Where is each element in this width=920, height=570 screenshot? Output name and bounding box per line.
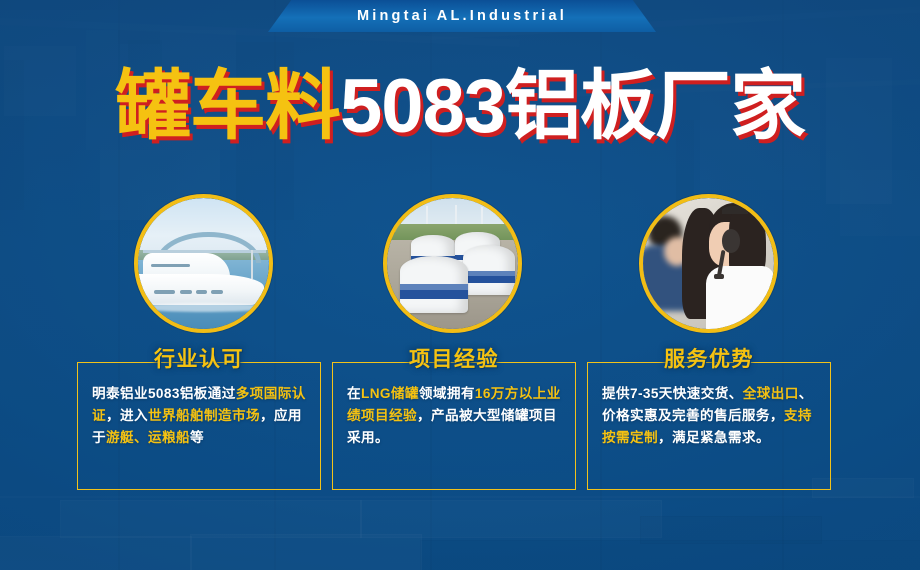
promo-banner: Mingtai AL.Industrial 罐车料5083铝板厂家 xyxy=(0,0,920,570)
card-text-segment: 提供7-35天快速交货、 xyxy=(602,386,743,401)
feature-card-project-experience: 项目经验 在LNG储罐领域拥有16万方以上业绩项目经验，产品被大型储罐项目采用。 xyxy=(332,362,576,490)
card-body: 明泰铝业5083铝板通过多项国际认证，进入世界船舶制造市场，应用于游艇、运粮船等 xyxy=(92,383,310,449)
card-text-segment: ，满足紧急需求。 xyxy=(658,430,770,445)
card-text-segment: 在 xyxy=(347,386,361,401)
card-body: 在LNG储罐领域拥有16万方以上业绩项目经验，产品被大型储罐项目采用。 xyxy=(347,383,565,449)
brand-tab: Mingtai AL.Industrial xyxy=(268,0,656,32)
headline-white-part: 5083铝板厂家 xyxy=(340,64,805,149)
card-text-segment: 领域拥有 xyxy=(419,386,475,401)
card-text-highlight: 游艇、运粮船 xyxy=(106,430,190,445)
card-text-highlight: 全球出口 xyxy=(743,386,799,401)
card-text-highlight: 世界船舶制造市场 xyxy=(148,408,260,423)
customer-service-photo xyxy=(639,194,778,333)
card-body: 提供7-35天快速交货、全球出口、价格实惠及完善的售后服务，支持按需定制，满足紧… xyxy=(602,383,820,449)
card-text-segment: ，进入 xyxy=(106,408,148,423)
card-text-segment: 明泰铝业5083铝板通过 xyxy=(92,386,236,401)
feature-card-industry-recognition: 行业认可 明泰铝业5083铝板通过多项国际认证，进入世界船舶制造市场，应用于游艇… xyxy=(77,362,321,490)
card-text-highlight: LNG储罐 xyxy=(361,386,419,401)
lng-tanks-photo xyxy=(383,194,522,333)
yacht-photo xyxy=(134,194,273,333)
brand-name: Mingtai AL.Industrial xyxy=(357,8,567,24)
feature-card-service-advantage: 服务优势 提供7-35天快速交货、全球出口、价格实惠及完善的售后服务，支持按需定… xyxy=(587,362,831,490)
headline-gold-part: 罐车料 xyxy=(115,64,340,149)
page-title: 罐车料5083铝板厂家 xyxy=(0,68,920,146)
card-text-segment: 等 xyxy=(190,430,204,445)
